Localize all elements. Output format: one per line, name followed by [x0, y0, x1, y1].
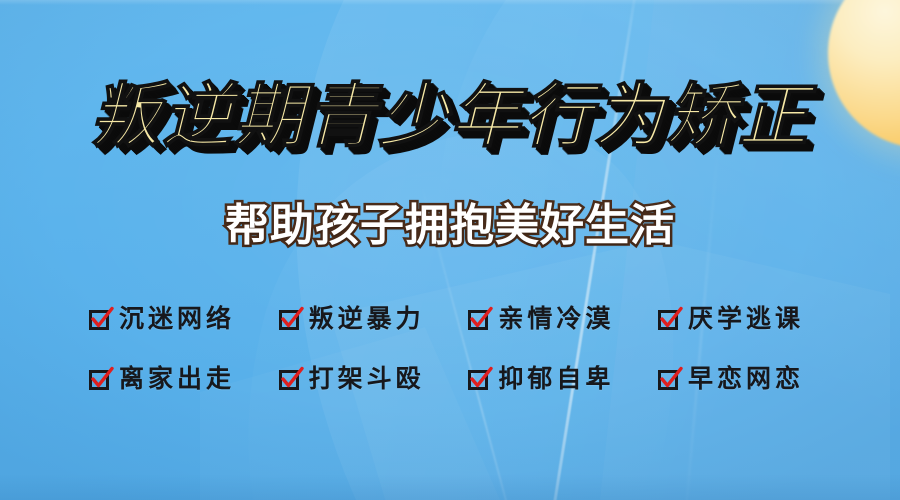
page-title: 叛逆期青少年行为矫正	[0, 78, 900, 154]
list-item-label: 沉迷网络	[119, 307, 235, 332]
checkbox-checked-icon[interactable]	[278, 366, 304, 392]
checkbox-checked-icon[interactable]	[657, 306, 683, 332]
checkbox-checked-icon[interactable]	[278, 306, 304, 332]
list-item-label: 抑郁自卑	[498, 367, 614, 392]
checkbox-checked-icon[interactable]	[467, 306, 493, 332]
list-item[interactable]: 抑郁自卑	[467, 366, 614, 392]
list-item-label: 叛逆暴力	[309, 307, 425, 332]
list-item[interactable]: 打架斗殴	[278, 366, 425, 392]
list-item[interactable]: 厌学逃课	[657, 306, 804, 332]
top-highlight-strip	[0, 0, 900, 5]
checkbox-checked-icon[interactable]	[88, 306, 114, 332]
checkbox-checked-icon[interactable]	[467, 366, 493, 392]
list-item-label: 厌学逃课	[688, 307, 804, 332]
checklist-row: 沉迷网络 叛逆暴力 亲情冷漠	[88, 292, 804, 346]
page-subtitle: 帮助孩子拥抱美好生活	[0, 200, 900, 252]
list-item[interactable]: 沉迷网络	[88, 306, 235, 332]
promo-banner: 叛逆期青少年行为矫正 帮助孩子拥抱美好生活 沉迷网络	[0, 0, 900, 500]
list-item[interactable]: 离家出走	[88, 366, 235, 392]
list-item-label: 打架斗殴	[309, 367, 425, 392]
list-item-label: 离家出走	[119, 367, 235, 392]
bottom-shadow-strip	[0, 474, 900, 500]
checkbox-checked-icon[interactable]	[657, 366, 683, 392]
list-item-label: 亲情冷漠	[498, 307, 614, 332]
list-item[interactable]: 早恋网恋	[657, 366, 804, 392]
list-item[interactable]: 叛逆暴力	[278, 306, 425, 332]
list-item[interactable]: 亲情冷漠	[467, 306, 614, 332]
symptom-checklist: 沉迷网络 叛逆暴力 亲情冷漠	[88, 292, 804, 406]
checkbox-checked-icon[interactable]	[88, 366, 114, 392]
checklist-row: 离家出走 打架斗殴 抑郁自卑	[88, 352, 804, 406]
list-item-label: 早恋网恋	[688, 367, 804, 392]
